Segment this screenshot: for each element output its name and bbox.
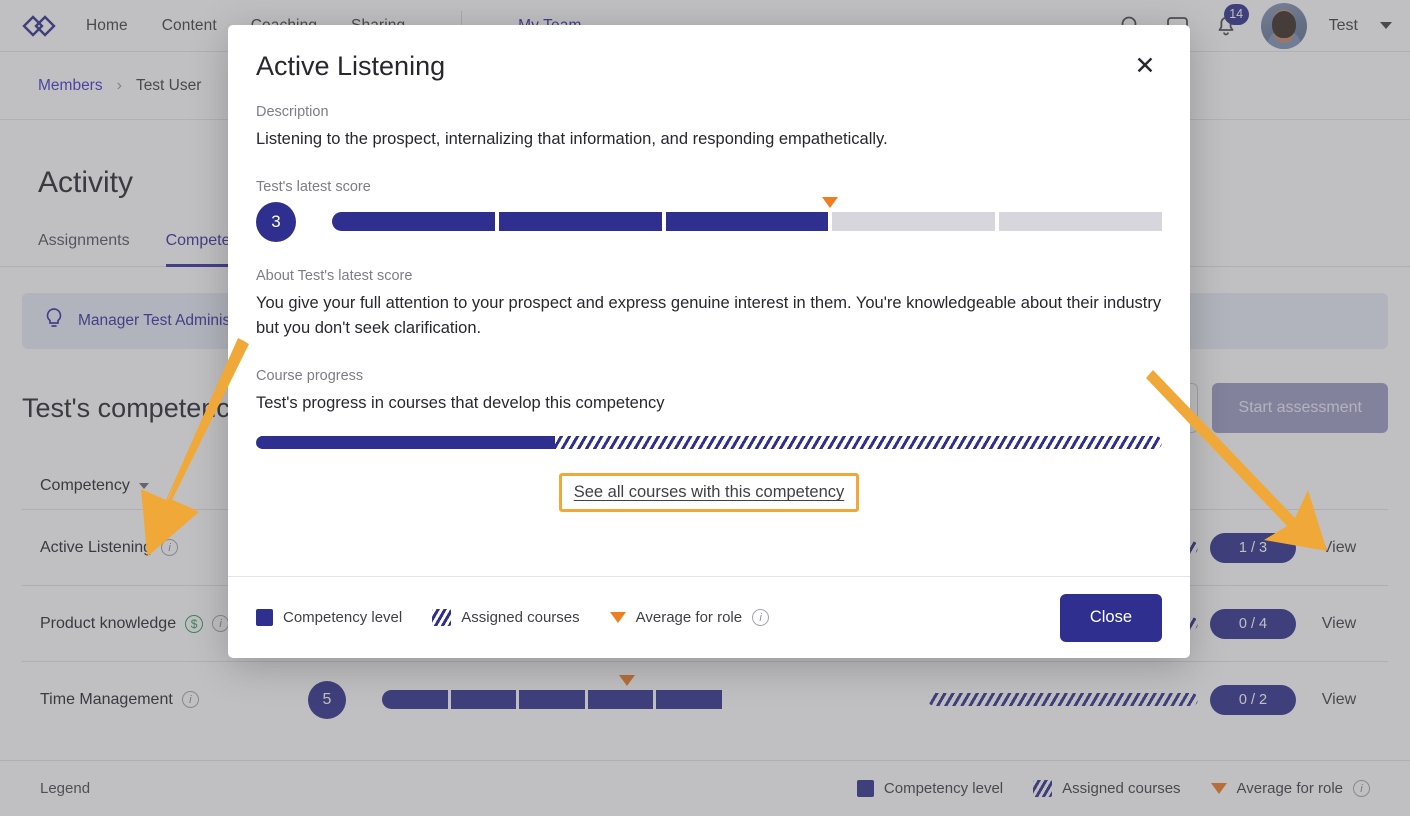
- solid-swatch-icon: [256, 609, 273, 626]
- row-action-cell: View: [1308, 691, 1370, 709]
- row-action-cell: View: [1308, 615, 1370, 633]
- about-score-block: About Test's latest score You give your …: [256, 268, 1162, 342]
- average-for-role-marker-icon: [619, 675, 635, 686]
- modal-header: Active Listening ✕: [228, 25, 1190, 82]
- description-label: Description: [256, 104, 1162, 120]
- legend-item-assigned-courses: Assigned courses: [1033, 780, 1180, 797]
- competency-name-cell: Time Management i: [40, 691, 308, 709]
- see-all-courses-wrap: See all courses with this competency: [256, 473, 1162, 512]
- course-progress-label: Course progress: [256, 368, 1162, 384]
- hatch-swatch-icon: [432, 609, 451, 626]
- about-score-text: You give your full attention to your pro…: [256, 291, 1162, 342]
- nav-item-home[interactable]: Home: [86, 17, 128, 35]
- course-progress-text: Test's progress in courses that develop …: [256, 391, 1162, 417]
- legend-item-assigned-courses: Assigned courses: [432, 609, 579, 626]
- description-block: Description Listening to the prospect, i…: [256, 104, 1162, 153]
- modal-footer: Competency level Assigned courses Averag…: [228, 576, 1190, 658]
- breadcrumb-separator-icon: ›: [117, 77, 122, 95]
- course-ratio-cell: 1 / 3: [1198, 533, 1308, 563]
- ratio-pill: 0 / 4: [1210, 609, 1296, 639]
- course-progress-block: Course progress Test's progress in cours…: [256, 368, 1162, 513]
- modal-body: Description Listening to the prospect, i…: [228, 82, 1190, 576]
- table-row[interactable]: Time Management i 5 0 / 2: [22, 661, 1388, 737]
- view-link[interactable]: View: [1322, 539, 1356, 557]
- average-for-role-marker-icon: [822, 197, 838, 208]
- legend-item-competency-level: Competency level: [857, 780, 1003, 797]
- notification-badge: 14: [1224, 4, 1249, 25]
- info-icon[interactable]: i: [1353, 780, 1370, 797]
- legend-items: Competency level Assigned courses Averag…: [857, 780, 1370, 797]
- legend-bar: Legend Competency level Assigned courses…: [0, 760, 1410, 816]
- breadcrumb-current: Test User: [136, 77, 201, 95]
- latest-score-block: Test's latest score 3: [256, 179, 1162, 242]
- course-progress-cell: [928, 693, 1198, 706]
- legend-label: Legend: [40, 780, 90, 797]
- chevron-down-icon[interactable]: [1380, 22, 1392, 29]
- infinity-logo-icon[interactable]: [18, 15, 60, 37]
- money-icon: $: [185, 615, 203, 633]
- triangle-swatch-icon: [1211, 783, 1227, 794]
- legend-item-average-for-role: Average for role i: [610, 609, 769, 626]
- competency-level-cell: 5: [308, 681, 928, 719]
- row-action-cell: View: [1308, 539, 1370, 557]
- lightbulb-icon: [44, 307, 64, 336]
- user-name[interactable]: Test: [1329, 17, 1358, 35]
- level-segments: [382, 690, 722, 709]
- close-icon[interactable]: ✕: [1130, 51, 1160, 81]
- level-segments: [332, 212, 1162, 231]
- score-badge: 5: [308, 681, 346, 719]
- score-badge: 3: [256, 202, 296, 242]
- latest-score-row: 3: [256, 202, 1162, 242]
- chevron-down-icon: [139, 483, 149, 489]
- about-score-label: About Test's latest score: [256, 268, 1162, 284]
- description-text: Listening to the prospect, internalizing…: [256, 127, 1162, 153]
- info-icon[interactable]: i: [212, 615, 229, 632]
- solid-swatch-icon: [857, 780, 874, 797]
- course-ratio-cell: 0 / 2: [1198, 685, 1308, 715]
- triangle-swatch-icon: [610, 612, 626, 623]
- course-progress-fill: [256, 436, 555, 449]
- nav-item-content[interactable]: Content: [162, 17, 217, 35]
- hatch-swatch-icon: [1033, 780, 1052, 797]
- assigned-courses-bar: [928, 693, 1198, 706]
- breadcrumb-members[interactable]: Members: [38, 77, 103, 95]
- legend-item-competency-level: Competency level: [256, 609, 402, 626]
- start-assessment-button[interactable]: Start assessment: [1212, 383, 1388, 433]
- info-icon[interactable]: i: [182, 691, 199, 708]
- view-link[interactable]: View: [1322, 615, 1356, 633]
- course-ratio-cell: 0 / 4: [1198, 609, 1308, 639]
- bell-icon[interactable]: 14: [1213, 13, 1239, 39]
- latest-score-label: Test's latest score: [256, 179, 1162, 195]
- annotation-highlight-box: See all courses with this competency: [559, 473, 860, 512]
- avatar[interactable]: [1261, 3, 1307, 49]
- modal-title: Active Listening: [256, 51, 445, 82]
- ratio-pill: 1 / 3: [1210, 533, 1296, 563]
- course-progress-bar: [256, 436, 1162, 449]
- tab-assignments[interactable]: Assignments: [38, 232, 130, 267]
- legend-item-average-for-role: Average for role i: [1211, 780, 1370, 797]
- close-button[interactable]: Close: [1060, 594, 1162, 642]
- ratio-pill: 0 / 2: [1210, 685, 1296, 715]
- info-icon[interactable]: i: [161, 539, 178, 556]
- competency-detail-modal: Active Listening ✕ Description Listening…: [228, 25, 1190, 658]
- app-root: Home Content Coaching Sharing My Team 14…: [0, 0, 1410, 816]
- see-all-courses-link[interactable]: See all courses with this competency: [574, 483, 845, 501]
- view-link[interactable]: View: [1322, 691, 1356, 709]
- info-icon[interactable]: i: [752, 609, 769, 626]
